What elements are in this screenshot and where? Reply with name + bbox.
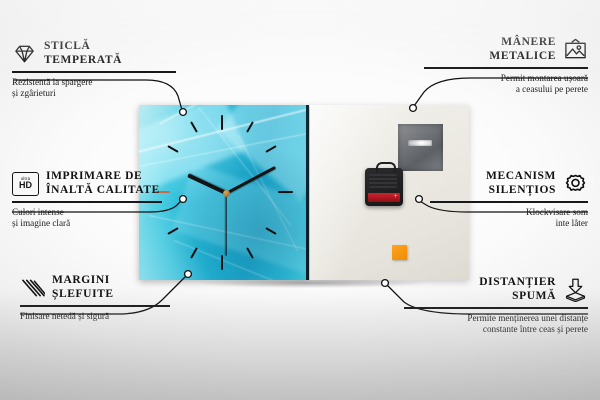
picture-hanger-icon <box>563 38 588 62</box>
battery: + <box>368 193 400 202</box>
clock-front-panel <box>139 105 309 280</box>
mechanism-hanger-loop <box>376 162 396 173</box>
callout-rule <box>430 201 588 203</box>
clock-mechanism: + <box>365 168 403 206</box>
callout-rule <box>12 71 176 73</box>
callout-desc: Finisare netedă și sigură <box>20 311 170 323</box>
callout-title: MECANISM SILENȚIOS <box>486 170 556 197</box>
callout-desc: Klockvisare som inte låter <box>430 207 588 230</box>
diamond-icon <box>12 42 37 66</box>
polished-edges-icon <box>20 276 45 300</box>
gear-icon <box>563 172 588 196</box>
battery-plus-label: + <box>393 194 398 199</box>
callout-print: ultra HD IMPRIMARE DE ÎNALTĂ CALITATE Cu… <box>12 170 162 230</box>
callout-spacer: DISTANȚIER SPUMĂ Permite menținerea unei… <box>404 276 588 336</box>
glass-edge <box>306 105 309 280</box>
clock-marker <box>221 115 223 130</box>
callout-desc: Permite menținerea unei distanțe constan… <box>404 313 588 336</box>
callout-edges: MARGINI ȘLEFUITE Finisare netedă și sigu… <box>20 274 170 322</box>
callout-title: DISTANȚIER SPUMĂ <box>479 276 556 303</box>
callout-rule <box>404 307 588 309</box>
callout-rule <box>12 201 162 203</box>
callout-mechanism: MECANISM SILENȚIOS Klockvisare som inte … <box>430 170 588 230</box>
foam-spacer <box>392 245 407 260</box>
callout-rule <box>20 305 170 307</box>
callout-desc: Culori intense și imagine clară <box>12 207 162 230</box>
ultra-hd-badge-icon: ultra HD <box>12 172 39 196</box>
callout-glass: STICLĂ TEMPERATĂ Rezistentă la spargere … <box>12 40 176 100</box>
callout-desc: Rezistentă la spargere și zgârieturi <box>12 77 176 100</box>
callout-title: STICLĂ TEMPERATĂ <box>44 40 122 67</box>
clock-second-hand <box>225 194 226 256</box>
clock-marker <box>221 255 223 270</box>
callout-rule <box>424 67 588 69</box>
infographic-canvas: + <box>0 0 600 400</box>
clock-center-pin <box>223 190 230 197</box>
metal-hanger-plate <box>398 124 443 171</box>
product-image: + <box>139 105 469 280</box>
callout-handles: MÂNERE METALICE Permit montarea ușoară a… <box>424 36 588 96</box>
callout-desc: Permit montarea ușoară a ceasului pe per… <box>424 73 588 96</box>
callout-title: IMPRIMARE DE ÎNALTĂ CALITATE <box>46 170 160 197</box>
callout-title: MÂNERE METALICE <box>489 36 556 63</box>
callout-title: MARGINI ȘLEFUITE <box>52 274 114 301</box>
foam-spacer-icon <box>563 278 588 302</box>
